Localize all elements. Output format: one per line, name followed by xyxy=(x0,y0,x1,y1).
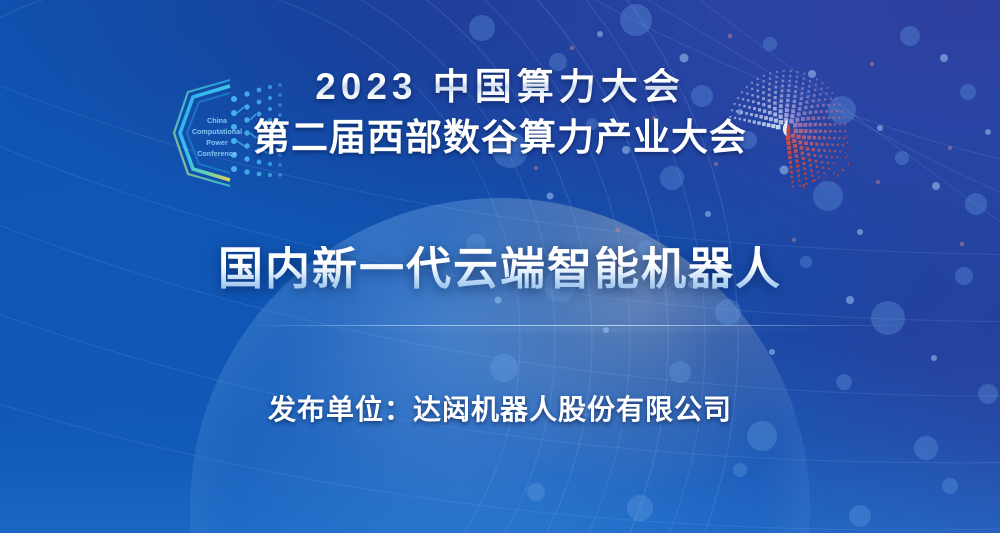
conference-name-line1: 2023 中国算力大会 xyxy=(315,68,685,105)
publisher-line: 发布单位：达闼机器人股份有限公司 xyxy=(0,388,1000,428)
conference-name-line2: 第二届西部数谷算力产业大会 xyxy=(0,119,1000,156)
page-title: 国内新一代云端智能机器人 xyxy=(0,246,1000,291)
conference-slide: China Computational Power Conference 202… xyxy=(0,0,1000,533)
conference-header: 2023 中国算力大会 第二届西部数谷算力产业大会 xyxy=(0,68,1000,156)
